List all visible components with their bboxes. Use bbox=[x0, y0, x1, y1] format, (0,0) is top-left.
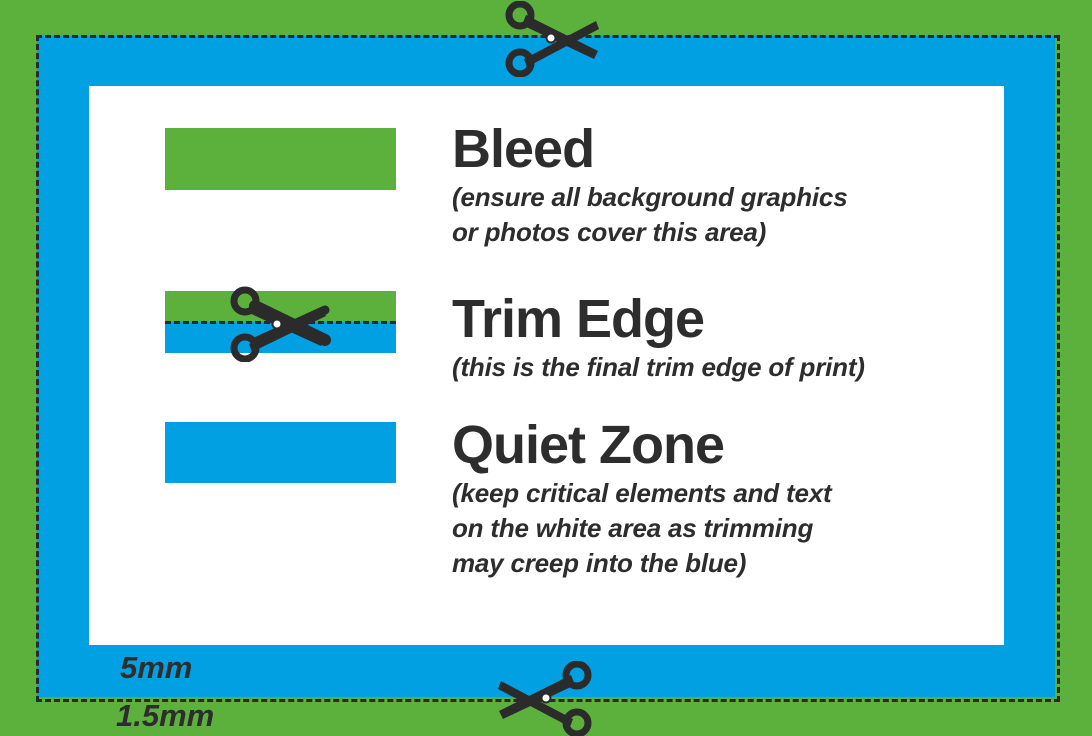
legend-subtext-trim-edge-line1: (this is the final trim edge of print) bbox=[452, 350, 865, 385]
swatch-quiet-zone bbox=[165, 422, 396, 483]
legend-heading-trim-edge: Trim Edge bbox=[452, 292, 865, 346]
swatch-trim-edge bbox=[165, 291, 396, 353]
swatch-trim-edge-dash bbox=[165, 321, 396, 324]
measurement-quiet-zone: 5mm bbox=[120, 652, 192, 683]
legend-item-quiet-zone: Quiet Zone (keep critical elements and t… bbox=[452, 418, 831, 581]
legend-subtext-quiet-zone-line2: on the white area as trimming bbox=[452, 511, 831, 546]
legend-heading-quiet-zone: Quiet Zone bbox=[452, 418, 831, 472]
legend-subtext-quiet-zone-line1: (keep critical elements and text bbox=[452, 476, 831, 511]
legend-subtext-bleed-line2: or photos cover this area) bbox=[452, 215, 847, 250]
legend-subtext-quiet-zone-line3: may creep into the blue) bbox=[452, 546, 831, 581]
legend-item-trim-edge: Trim Edge (this is the final trim edge o… bbox=[452, 292, 865, 385]
swatch-trim-edge-lower bbox=[165, 322, 396, 353]
legend-subtext-bleed-line1: (ensure all background graphics bbox=[452, 180, 847, 215]
legend-item-bleed: Bleed (ensure all background graphics or… bbox=[452, 122, 847, 250]
legend-heading-bleed: Bleed bbox=[452, 122, 847, 176]
print-bleed-diagram: Bleed (ensure all background graphics or… bbox=[0, 0, 1092, 736]
measurement-bleed: 1.5mm bbox=[116, 700, 214, 731]
swatch-bleed bbox=[165, 128, 396, 190]
